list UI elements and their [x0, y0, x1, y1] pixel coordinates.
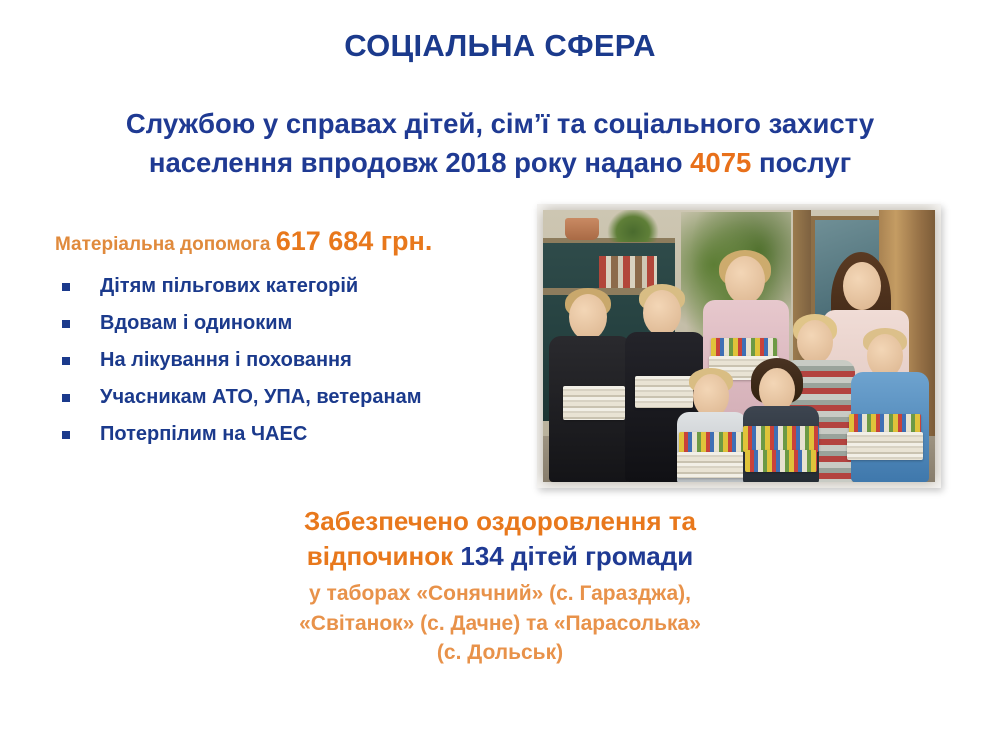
services-count: 4075 [690, 147, 751, 178]
subtitle-line-1: Службою у справах дітей, сім’ї та соціал… [126, 108, 874, 139]
camps-detail-line-3: (с. Дольськ) [437, 641, 563, 664]
list-item: На лікування і поховання [55, 342, 505, 379]
square-bullet-icon [62, 320, 70, 328]
list-item: Вдовам і одиноким [55, 305, 505, 342]
material-aid-label: Матеріальна допомога [55, 234, 276, 255]
photo-flower-pot [565, 218, 599, 240]
square-bullet-icon [62, 357, 70, 365]
camps-lead-line-2-prefix: відпочинок [307, 541, 461, 571]
square-bullet-icon [62, 394, 70, 402]
photo-school-supplies [847, 432, 923, 460]
slide-subtitle: Службою у справах дітей, сім’ї та соціал… [60, 104, 940, 182]
camps-lead-line-1: Забезпечено оздоровлення та [304, 506, 696, 536]
list-item-label: На лікування і поховання [100, 349, 352, 371]
page-title: СОЦІАЛЬНА СФЕРА [0, 28, 1000, 64]
list-item: Дітям пільгових категорій [55, 268, 505, 305]
photo-head [843, 262, 881, 310]
slide-canvas: СОЦІАЛЬНА СФЕРА Службою у справах дітей,… [0, 0, 1000, 750]
photo-school-supplies [745, 450, 817, 472]
subtitle-line-2-prefix: населення впродовж 2018 року надано [149, 147, 690, 178]
camps-detail-text: у таборах «Сонячний» (с. Гаразджа), «Сві… [230, 579, 770, 668]
camps-lead-text: Забезпечено оздоровлення та відпочинок 1… [230, 504, 770, 575]
material-aid-amount: 617 684 грн. [276, 226, 433, 256]
photo-school-supplies [563, 386, 625, 420]
photo-school-supplies [679, 432, 745, 454]
summer-camps-block: Забезпечено оздоровлення та відпочинок 1… [230, 504, 770, 668]
group-photo [537, 204, 941, 488]
photo-school-supplies [849, 414, 921, 434]
list-item: Учасникам АТО, УПА, ветеранам [55, 379, 505, 416]
photo-head [643, 290, 681, 336]
photo-school-supplies [711, 338, 777, 358]
children-count: 134 дітей громади [460, 541, 693, 571]
photo-school-supplies [743, 426, 819, 452]
photo-school-supplies [635, 376, 693, 408]
photo-head [725, 256, 765, 304]
photo-head [797, 320, 833, 364]
material-aid-heading: Матеріальна допомога 617 684 грн. [55, 226, 432, 257]
list-item-label: Потерпілим на ЧАЕС [100, 423, 307, 445]
square-bullet-icon [62, 283, 70, 291]
subtitle-line-2-suffix: послуг [751, 147, 851, 178]
photo-plant-small [607, 210, 659, 242]
photo-folders [599, 256, 657, 288]
camps-detail-line-1: у таборах «Сонячний» (с. Гаразджа), [309, 582, 691, 605]
photo-school-supplies [677, 452, 747, 478]
camps-detail-line-2: «Світанок» (с. Дачне) та «Парасолька» [299, 612, 701, 635]
aid-categories-list: Дітям пільгових категорій Вдовам і одино… [55, 268, 505, 453]
list-item-label: Вдовам і одиноким [100, 312, 292, 334]
list-item-label: Учасникам АТО, УПА, ветеранам [100, 386, 422, 408]
photo-head [569, 294, 607, 340]
square-bullet-icon [62, 431, 70, 439]
photo-image [543, 210, 935, 482]
list-item: Потерпілим на ЧАЕС [55, 416, 505, 453]
list-item-label: Дітям пільгових категорій [100, 275, 358, 297]
